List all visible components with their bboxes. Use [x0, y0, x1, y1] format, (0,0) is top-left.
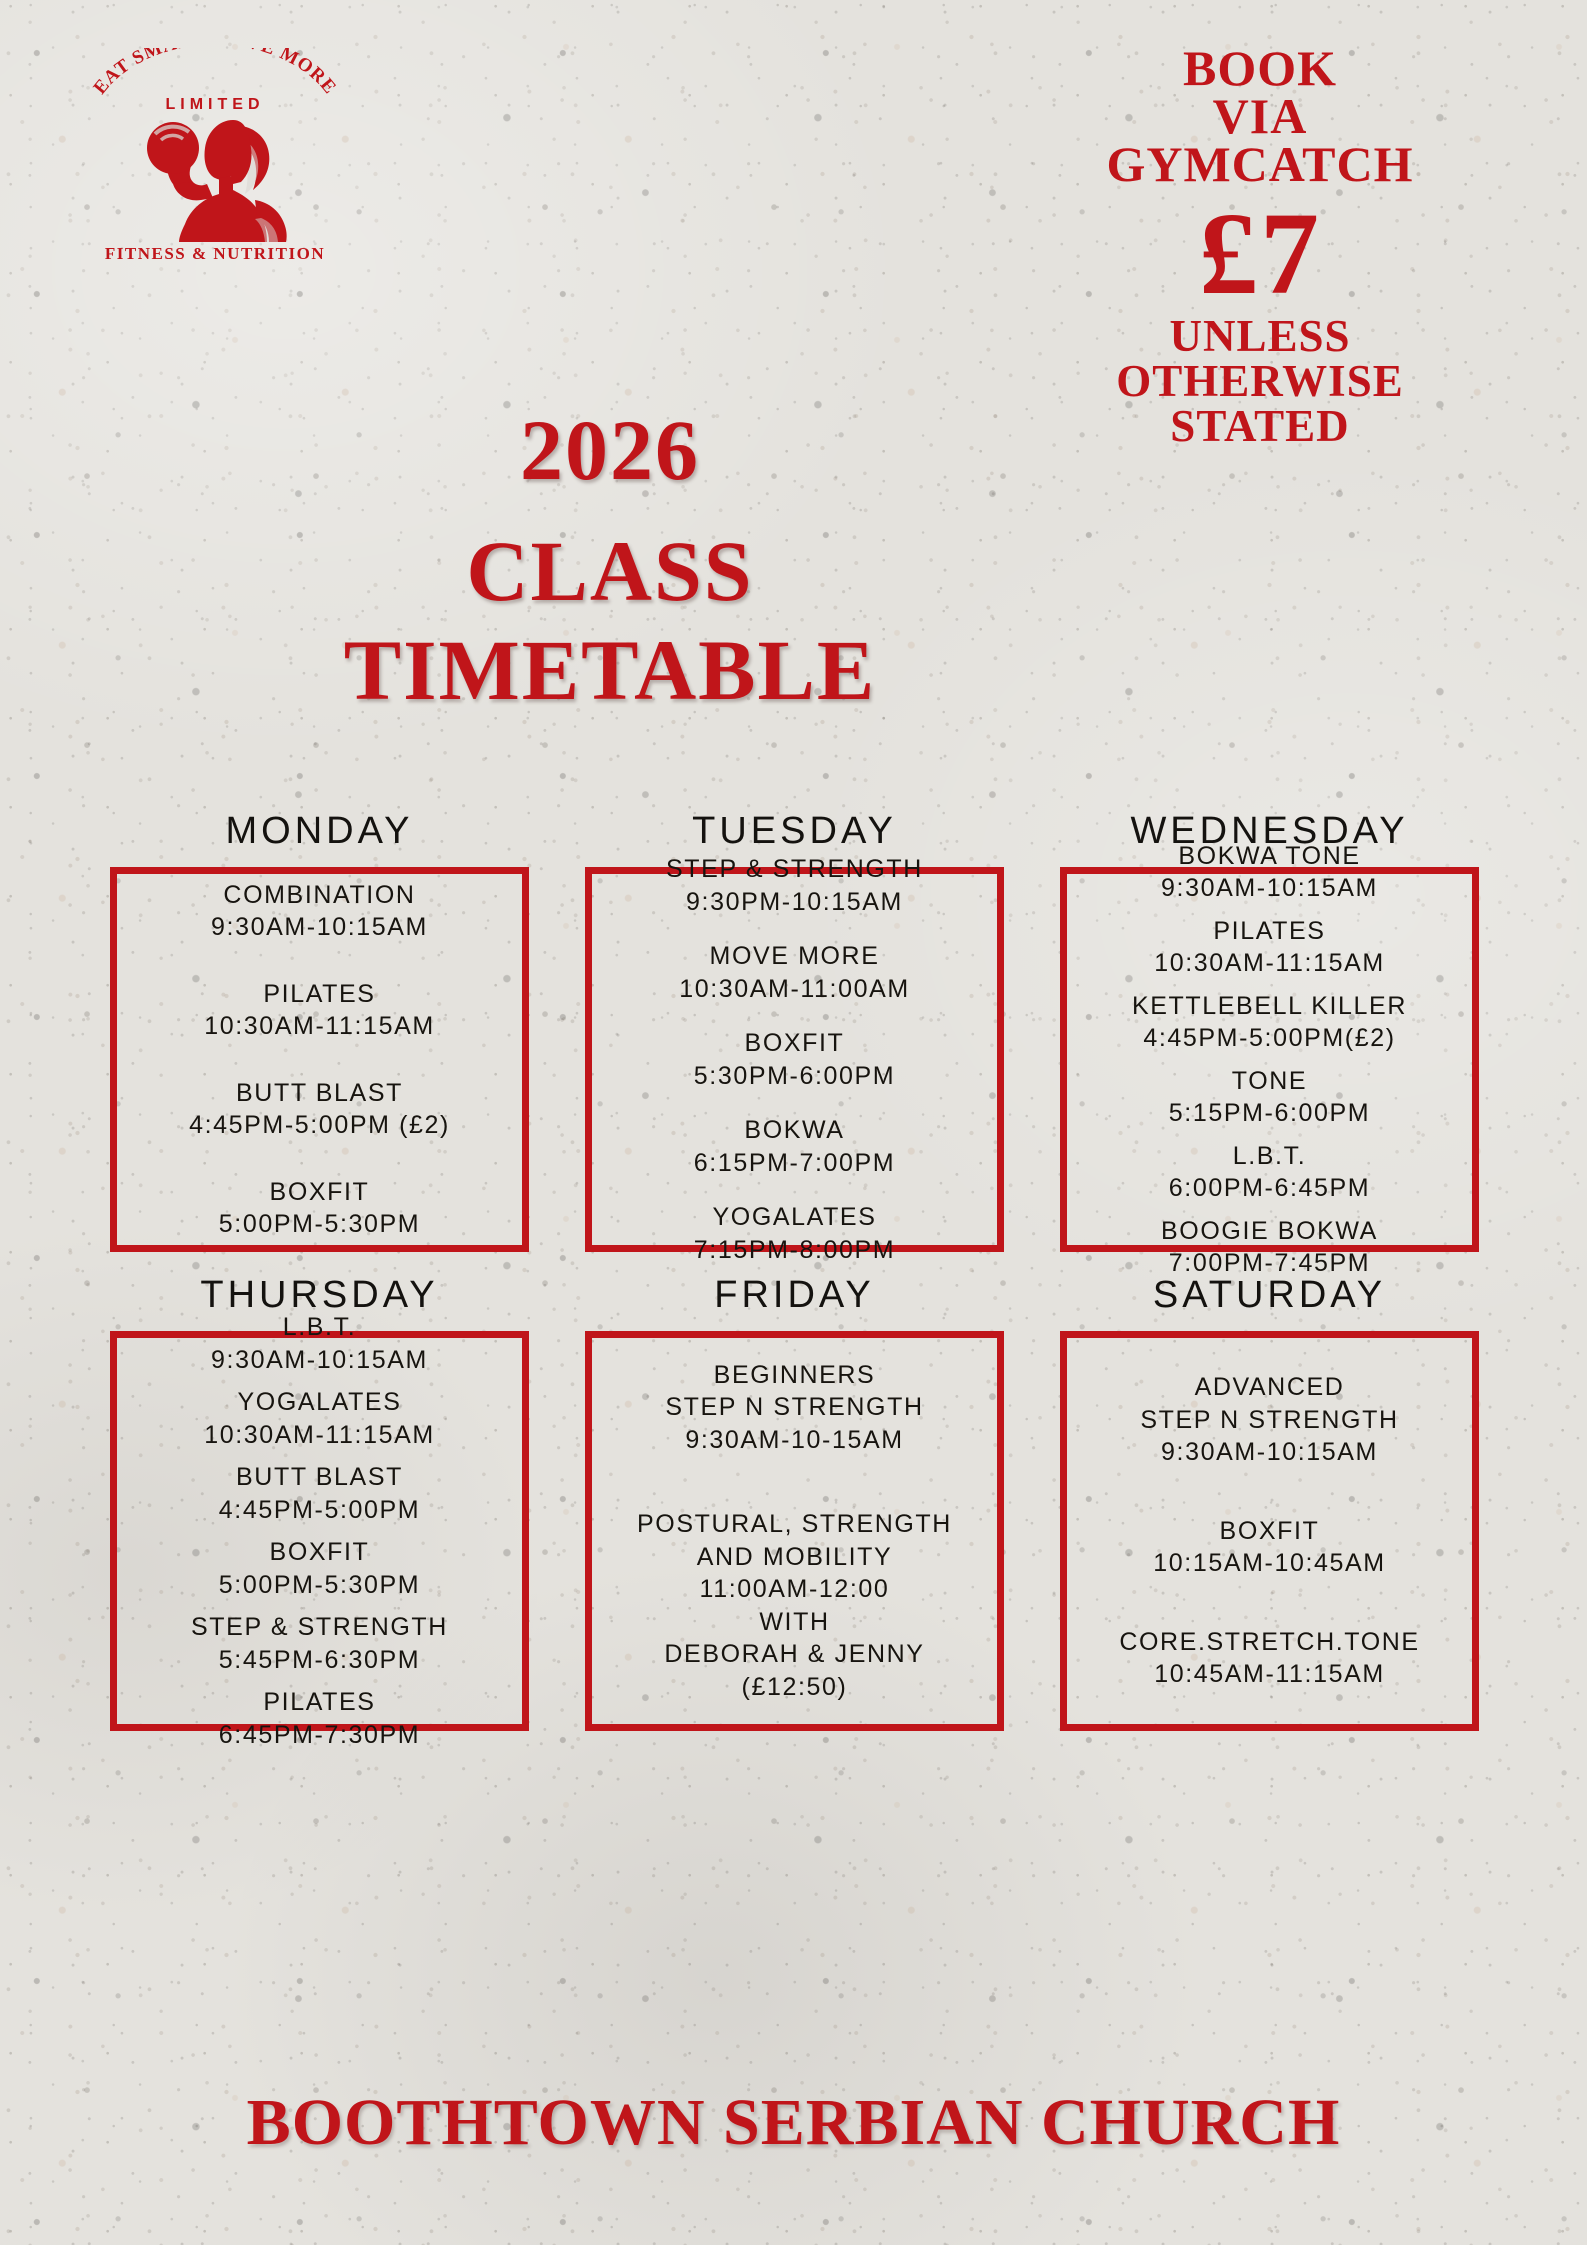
class-list: COMBINATION9:30AM-10:15AMPILATES10:30AM-… [127, 879, 512, 1241]
logo-subtitle: LIMITED [80, 96, 350, 114]
price-note-2: OTHERWISE [1000, 359, 1520, 404]
day-class-box: L.B.T.9:30AM-10:15AMYOGALATES10:30AM-11:… [110, 1331, 529, 1731]
class-time: 10:15AM-10:45AM [1077, 1547, 1462, 1580]
title-year: 2026 [220, 405, 1000, 495]
class-entry: PILATES10:30AM-11:15AM [127, 978, 512, 1043]
class-entry: BOXFIT5:30PM-6:00PM [602, 1027, 987, 1092]
class-entry: PILATES6:45PM-7:30PM [127, 1686, 512, 1751]
day-class-box: STEP & STRENGTH9:30PM-10:15AMMOVE MORE10… [585, 867, 1004, 1252]
venue-footer: BOOTHTOWN SERBIAN CHURCH [0, 2085, 1587, 2161]
timetable-row-bottom: THURSDAYL.B.T.9:30AM-10:15AMYOGALATES10:… [110, 1274, 1480, 1731]
class-entry: POSTURAL, STRENGTHAND MOBILITY11:00AM-12… [602, 1508, 987, 1703]
class-name: YOGALATES [602, 1201, 987, 1234]
class-entry: ADVANCEDSTEP N STRENGTH9:30AM-10:15AM [1077, 1371, 1462, 1469]
day-column-friday: FRIDAYBEGINNERSSTEP N STRENGTH9:30AM-10-… [585, 1274, 1004, 1731]
class-name: ADVANCED [1077, 1371, 1462, 1404]
class-list: STEP & STRENGTH9:30PM-10:15AMMOVE MORE10… [602, 853, 987, 1266]
class-name: BOXFIT [127, 1536, 512, 1569]
class-time: 10:45AM-11:15AM [1077, 1658, 1462, 1691]
class-time: 10:30AM-11:15AM [127, 1010, 512, 1043]
day-column-monday: MONDAYCOMBINATION9:30AM-10:15AMPILATES10… [110, 810, 529, 1252]
class-name: L.B.T. [127, 1311, 512, 1344]
class-time: (£12:50) [602, 1671, 987, 1704]
class-name: AND MOBILITY [602, 1541, 987, 1574]
day-column-tuesday: TUESDAYSTEP & STRENGTH9:30PM-10:15AMMOVE… [585, 810, 1004, 1252]
class-time: 10:30AM-11:00AM [602, 973, 987, 1006]
class-name: PILATES [127, 1686, 512, 1719]
class-name: BUTT BLAST [127, 1077, 512, 1110]
booking-line-2: VIA [1000, 92, 1520, 140]
day-heading: FRIDAY [585, 1274, 1004, 1317]
booking-price-block: BOOK VIA GYMCATCH £7 UNLESS OTHERWISE ST… [1000, 44, 1520, 449]
class-name: STEP N STRENGTH [1077, 1404, 1462, 1437]
class-time: 10:30AM-11:15AM [127, 1419, 512, 1452]
price-note-1: UNLESS [1000, 314, 1520, 359]
class-list: BEGINNERSSTEP N STRENGTH9:30AM-10-15AMPO… [602, 1359, 987, 1704]
class-name: BOOGIE BOKWA [1077, 1215, 1462, 1248]
brand-logo: EAT SMART MOVE MORE LIMITED [80, 48, 350, 268]
day-column-wednesday: WEDNESDAYBOKWA TONE9:30AM-10:15AMPILATES… [1060, 810, 1479, 1252]
class-time: 9:30AM-10:15AM [1077, 872, 1462, 905]
class-time: 9:30AM-10-15AM [602, 1424, 987, 1457]
class-time: 10:30AM-11:15AM [1077, 947, 1462, 980]
class-time: 9:30PM-10:15AM [602, 886, 987, 919]
class-name: BEGINNERS [602, 1359, 987, 1392]
day-class-box: COMBINATION9:30AM-10:15AMPILATES10:30AM-… [110, 867, 529, 1252]
timetable-grid: MONDAYCOMBINATION9:30AM-10:15AMPILATES10… [110, 810, 1480, 1731]
class-time: 4:45PM-5:00PM [127, 1494, 512, 1527]
class-time: 4:45PM-5:00PM(£2) [1077, 1022, 1462, 1055]
class-name: STEP & STRENGTH [127, 1611, 512, 1644]
class-time: 11:00AM-12:00 [602, 1573, 987, 1606]
class-time: 7:15PM-8:00PM [602, 1234, 987, 1267]
class-time: 9:30AM-10:15AM [1077, 1436, 1462, 1469]
class-entry: BOKWA TONE9:30AM-10:15AM [1077, 840, 1462, 905]
class-time: DEBORAH & JENNY [602, 1638, 987, 1671]
class-name: YOGALATES [127, 1386, 512, 1419]
page-title: 2026 CLASS TIMETABLE [220, 405, 1000, 717]
price-note-3: STATED [1000, 404, 1520, 449]
class-time: 5:15PM-6:00PM [1077, 1097, 1462, 1130]
logo-arc-label: EAT SMART MOVE MORE [89, 48, 340, 98]
class-name: COMBINATION [127, 879, 512, 912]
price-amount: £7 [1000, 194, 1520, 314]
class-time: 6:00PM-6:45PM [1077, 1172, 1462, 1205]
class-name: BOXFIT [127, 1176, 512, 1209]
class-entry: PILATES10:30AM-11:15AM [1077, 915, 1462, 980]
class-name: MOVE MORE [602, 940, 987, 973]
class-entry: STEP & STRENGTH5:45PM-6:30PM [127, 1611, 512, 1676]
class-entry: BOOGIE BOKWA7:00PM-7:45PM [1077, 1215, 1462, 1280]
class-name: KETTLEBELL KILLER [1077, 990, 1462, 1023]
booking-line-3: GYMCATCH [1000, 140, 1520, 188]
class-name: STEP & STRENGTH [602, 853, 987, 886]
class-entry: BUTT BLAST4:45PM-5:00PM (£2) [127, 1077, 512, 1142]
day-heading: SATURDAY [1060, 1274, 1479, 1317]
class-time: 5:00PM-5:30PM [127, 1208, 512, 1241]
class-time: 5:30PM-6:00PM [602, 1060, 987, 1093]
class-name: BOKWA TONE [1077, 840, 1462, 873]
class-time: 5:00PM-5:30PM [127, 1569, 512, 1602]
day-heading: MONDAY [110, 810, 529, 853]
class-name: BOXFIT [602, 1027, 987, 1060]
class-name: L.B.T. [1077, 1140, 1462, 1173]
class-time: 9:30AM-10:15AM [127, 1344, 512, 1377]
class-entry: COMBINATION9:30AM-10:15AM [127, 879, 512, 944]
day-column-saturday: SATURDAYADVANCEDSTEP N STRENGTH9:30AM-10… [1060, 1274, 1479, 1731]
class-name: POSTURAL, STRENGTH [602, 1508, 987, 1541]
day-class-box: ADVANCEDSTEP N STRENGTH9:30AM-10:15AMBOX… [1060, 1331, 1479, 1731]
class-entry: YOGALATES10:30AM-11:15AM [127, 1386, 512, 1451]
class-entry: BOXFIT5:00PM-5:30PM [127, 1176, 512, 1241]
day-class-box: BEGINNERSSTEP N STRENGTH9:30AM-10-15AMPO… [585, 1331, 1004, 1731]
woman-with-dumbbell-icon [115, 114, 315, 242]
class-name: STEP N STRENGTH [602, 1391, 987, 1424]
class-time: 6:15PM-7:00PM [602, 1147, 987, 1180]
class-list: ADVANCEDSTEP N STRENGTH9:30AM-10:15AMBOX… [1077, 1371, 1462, 1691]
title-timetable: TIMETABLE [220, 623, 1000, 718]
svg-text:EAT SMART MOVE MORE: EAT SMART MOVE MORE [89, 48, 340, 98]
class-entry: TONE5:15PM-6:00PM [1077, 1065, 1462, 1130]
class-name: BUTT BLAST [127, 1461, 512, 1494]
day-column-thursday: THURSDAYL.B.T.9:30AM-10:15AMYOGALATES10:… [110, 1274, 529, 1731]
logo-tagline: FITNESS & NUTRITION [70, 244, 360, 264]
class-entry: CORE.STRETCH.TONE10:45AM-11:15AM [1077, 1626, 1462, 1691]
class-time: WITH [602, 1606, 987, 1639]
booking-line-1: BOOK [1000, 44, 1520, 92]
class-name: PILATES [127, 978, 512, 1011]
class-entry: BOKWA6:15PM-7:00PM [602, 1114, 987, 1179]
class-entry: YOGALATES7:15PM-8:00PM [602, 1201, 987, 1266]
class-time: 4:45PM-5:00PM (£2) [127, 1109, 512, 1142]
class-name: BOXFIT [1077, 1515, 1462, 1548]
class-entry: BOXFIT5:00PM-5:30PM [127, 1536, 512, 1601]
day-class-box: BOKWA TONE9:30AM-10:15AMPILATES10:30AM-1… [1060, 867, 1479, 1252]
class-list: BOKWA TONE9:30AM-10:15AMPILATES10:30AM-1… [1077, 840, 1462, 1280]
class-time: 5:45PM-6:30PM [127, 1644, 512, 1677]
class-time: 9:30AM-10:15AM [127, 911, 512, 944]
class-entry: MOVE MORE10:30AM-11:00AM [602, 940, 987, 1005]
class-entry: KETTLEBELL KILLER4:45PM-5:00PM(£2) [1077, 990, 1462, 1055]
class-entry: BEGINNERSSTEP N STRENGTH9:30AM-10-15AM [602, 1359, 987, 1457]
class-entry: L.B.T.6:00PM-6:45PM [1077, 1140, 1462, 1205]
class-entry: BOXFIT10:15AM-10:45AM [1077, 1515, 1462, 1580]
class-name: PILATES [1077, 915, 1462, 948]
class-list: L.B.T.9:30AM-10:15AMYOGALATES10:30AM-11:… [127, 1311, 512, 1751]
title-class: CLASS [220, 521, 1000, 622]
class-timetable-poster: EAT SMART MOVE MORE LIMITED [0, 0, 1587, 2245]
day-heading: TUESDAY [585, 810, 1004, 853]
class-name: BOKWA [602, 1114, 987, 1147]
class-entry: L.B.T.9:30AM-10:15AM [127, 1311, 512, 1376]
class-name: TONE [1077, 1065, 1462, 1098]
class-time: 6:45PM-7:30PM [127, 1719, 512, 1752]
timetable-row-top: MONDAYCOMBINATION9:30AM-10:15AMPILATES10… [110, 810, 1480, 1252]
class-name: CORE.STRETCH.TONE [1077, 1626, 1462, 1659]
class-entry: STEP & STRENGTH9:30PM-10:15AM [602, 853, 987, 918]
class-entry: BUTT BLAST4:45PM-5:00PM [127, 1461, 512, 1526]
